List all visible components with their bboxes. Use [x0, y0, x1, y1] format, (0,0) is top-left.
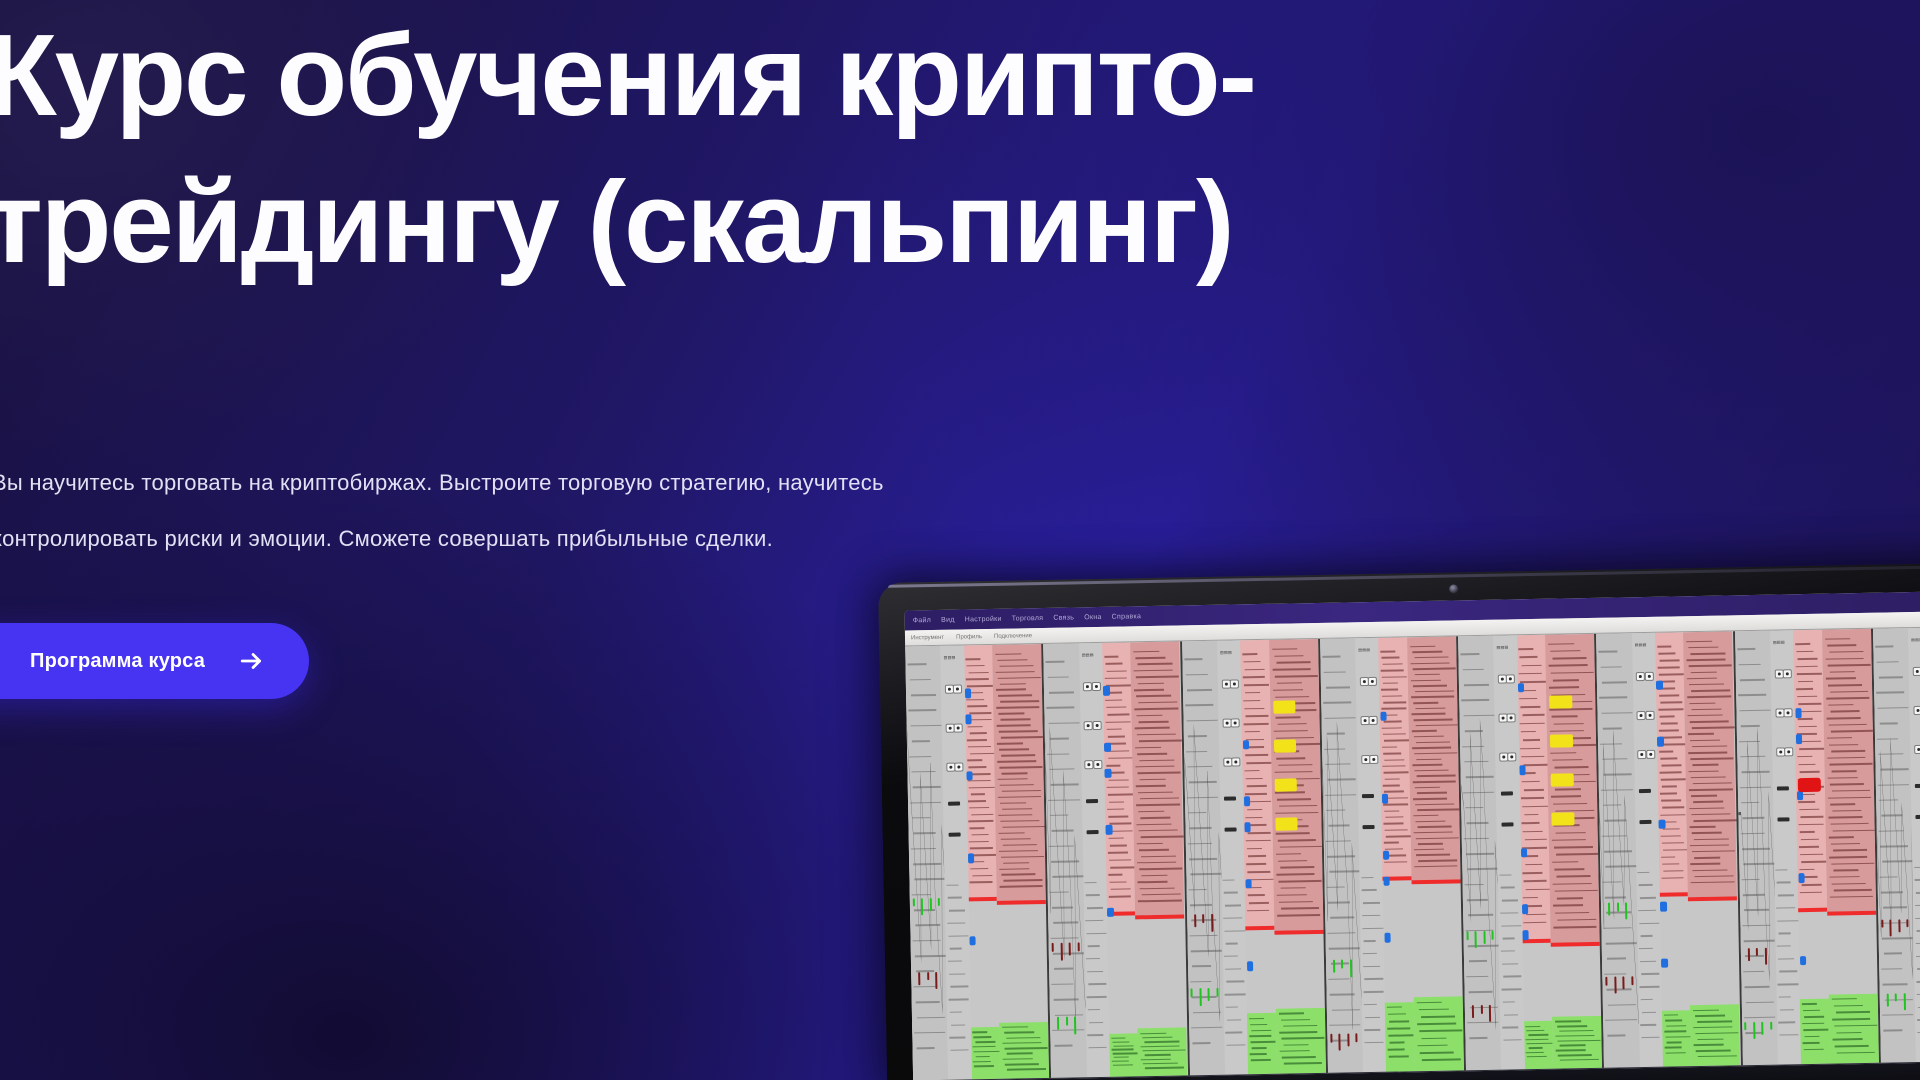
- dom-panel-2[interactable]: ▤▤▤: [1043, 641, 1189, 1077]
- bullish-candle-marker: [1199, 988, 1201, 1005]
- order-marker-blue: [1795, 708, 1801, 718]
- bullish-candle-marker: [1333, 960, 1335, 973]
- laptop-mockup: Файл Вид Настройки Торговля Связь Окна С…: [878, 562, 1920, 1080]
- highlighted-volume-cell: [1273, 700, 1296, 713]
- dom-ladder-grid[interactable]: ▤▤▤▤▤▤▤▤▤▤▤▤▤▤▤▤▤▤▤▤▤▤▤▤: [905, 626, 1920, 1080]
- bullish-candle-marker: [1753, 1022, 1755, 1039]
- order-marker-blue: [1244, 822, 1250, 832]
- toolbar-item-1[interactable]: Профиль: [956, 634, 982, 640]
- arrow-right-icon: [239, 648, 265, 674]
- volume-tape-column[interactable]: [1407, 636, 1464, 1071]
- bearish-candle-marker: [1764, 948, 1766, 965]
- order-marker-blue: [1243, 740, 1249, 750]
- order-marker-blue: [1103, 686, 1109, 696]
- order-marker-blue: [1244, 796, 1250, 806]
- volume-tape-column[interactable]: [992, 644, 1049, 1079]
- dom-panel-8[interactable]: ▤▤▤: [1873, 626, 1920, 1062]
- order-marker-blue: [1522, 904, 1528, 914]
- order-marker-blue: [1521, 848, 1527, 858]
- webcam-icon: [1449, 584, 1458, 593]
- order-marker-blue: [1107, 907, 1113, 917]
- bullish-candle-marker: [930, 898, 932, 911]
- bearish-candle-marker: [1898, 919, 1900, 932]
- order-marker-blue: [1245, 879, 1251, 889]
- bullish-candle-marker: [1350, 960, 1352, 977]
- bullish-candle-marker: [1216, 988, 1218, 997]
- toolbar-item-2[interactable]: Подключение: [994, 633, 1032, 640]
- course-program-button[interactable]: Программа курса: [0, 623, 309, 699]
- order-marker-blue: [967, 771, 973, 781]
- page-title-line-2: трейдингу (скальпинг): [0, 149, 1686, 296]
- page-title: Курс обучения крипто- трейдингу (скальпи…: [0, 2, 1686, 297]
- bearish-candle-marker: [1756, 948, 1758, 957]
- dom-panel-6[interactable]: ▤▤▤: [1596, 631, 1742, 1067]
- order-marker-blue: [1660, 902, 1666, 912]
- hero-subtitle: Вы научитесь торговать на криптобиржах. …: [0, 455, 1172, 567]
- bullish-candle-marker: [913, 898, 915, 907]
- bearish-candle-marker: [1881, 919, 1883, 928]
- highlighted-volume-cell: [1274, 739, 1297, 752]
- highlighted-volume-cell: [1274, 778, 1297, 791]
- laptop-screen: Файл Вид Настройки Торговля Связь Окна С…: [905, 590, 1920, 1080]
- order-marker-blue: [1796, 734, 1802, 744]
- highlighted-volume-cell: [1549, 695, 1572, 708]
- order-marker-blue: [1659, 819, 1665, 829]
- bullish-candle-marker: [1770, 1021, 1772, 1030]
- dom-panel-4[interactable]: ▤▤▤: [1320, 636, 1466, 1072]
- bearish-candle-marker: [1052, 943, 1054, 952]
- menu-item-6[interactable]: Справка: [1112, 613, 1142, 621]
- order-marker-blue: [970, 936, 976, 946]
- hero-subtitle-line-1: Вы научитесь торговать на криптобиржах. …: [0, 455, 1172, 511]
- page-title-line-1: Курс обучения крипто-: [0, 2, 1686, 149]
- bearish-candle-marker: [1060, 943, 1062, 960]
- course-program-button-label: Программа курса: [30, 650, 205, 673]
- menu-item-0[interactable]: Файл: [913, 617, 932, 624]
- bearish-candle-marker: [1211, 914, 1213, 931]
- volume-tape-column[interactable]: [1822, 629, 1879, 1064]
- order-marker-blue: [1520, 765, 1526, 775]
- bullish-candle-marker: [1066, 1017, 1068, 1026]
- active-position-marker: [1798, 777, 1821, 792]
- menu-item-3[interactable]: Торговля: [1012, 614, 1044, 622]
- menu-item-5[interactable]: Окна: [1084, 613, 1102, 620]
- bearish-candle-marker: [1480, 1005, 1482, 1014]
- price-tick-rows: [1407, 636, 1464, 1071]
- bullish-candle-marker: [1483, 931, 1485, 944]
- order-marker-blue: [1383, 876, 1389, 886]
- menu-item-4[interactable]: Связь: [1053, 614, 1074, 621]
- order-marker-blue: [1656, 680, 1662, 690]
- bearish-candle-marker: [1747, 948, 1749, 961]
- bullish-candle-marker: [1466, 931, 1468, 940]
- bearish-candle-marker: [1194, 915, 1196, 928]
- hero-subtitle-line-2: контролировать риски и эмоции. Сможете с…: [0, 511, 1172, 567]
- highlighted-volume-cell: [1275, 817, 1298, 830]
- laptop-bezel: Файл Вид Настройки Торговля Связь Окна С…: [878, 562, 1920, 1080]
- highlighted-volume-cell: [1551, 773, 1574, 786]
- volume-tape-column[interactable]: [1683, 631, 1740, 1066]
- order-marker-blue: [1518, 683, 1524, 693]
- bullish-candle-marker: [1617, 903, 1619, 912]
- order-marker-blue: [1382, 794, 1388, 804]
- volume-tape-column[interactable]: [1131, 641, 1188, 1076]
- bearish-candle-marker: [1355, 1033, 1357, 1042]
- price-tick-rows: [1131, 641, 1188, 1076]
- dom-panel-1[interactable]: ▤▤▤: [905, 644, 1051, 1080]
- order-marker-blue: [1384, 933, 1390, 943]
- menu-item-1[interactable]: Вид: [941, 616, 955, 623]
- order-marker-blue: [1106, 825, 1112, 835]
- bullish-candle-marker: [1904, 993, 1906, 1010]
- order-marker-blue: [965, 689, 971, 699]
- price-tick-rows: [992, 644, 1049, 1079]
- price-tick-rows: [1822, 629, 1879, 1064]
- order-marker-blue: [1104, 743, 1110, 753]
- bearish-candle-marker: [1605, 977, 1607, 986]
- bearish-candle-marker: [1906, 919, 1908, 928]
- dom-panel-5[interactable]: ▤▤▤: [1458, 634, 1604, 1070]
- order-marker-blue: [1661, 958, 1667, 968]
- bearish-candle-marker: [1347, 1033, 1349, 1046]
- order-marker-blue: [968, 854, 974, 864]
- bearish-candle-marker: [1202, 914, 1204, 923]
- order-marker-blue: [966, 715, 972, 725]
- bearish-candle-marker: [1330, 1034, 1332, 1043]
- volume-tape-column[interactable]: [1545, 634, 1602, 1069]
- toolbar-item-0[interactable]: Инструмент: [911, 634, 944, 641]
- bearish-candle-marker: [1614, 976, 1616, 993]
- volume-tape-column[interactable]: [1269, 639, 1326, 1074]
- order-marker-blue: [1798, 873, 1804, 883]
- order-marker-blue: [1105, 769, 1111, 779]
- bearish-candle-marker: [1631, 976, 1633, 985]
- bearish-candle-marker: [1077, 943, 1079, 952]
- dom-panel-7[interactable]: ▤▤▤: [1735, 629, 1881, 1065]
- dom-panel-3[interactable]: ▤▤▤: [1182, 639, 1328, 1075]
- bullish-candle-marker: [1887, 993, 1889, 1006]
- order-marker-blue: [1383, 850, 1389, 860]
- bearish-candle-marker: [927, 972, 929, 981]
- order-marker-blue: [1800, 956, 1806, 966]
- order-marker-blue: [1657, 737, 1663, 747]
- highlighted-volume-cell: [1551, 812, 1574, 825]
- highlighted-volume-cell: [1550, 734, 1573, 747]
- menu-item-2[interactable]: Настройки: [965, 615, 1002, 623]
- order-marker-blue: [1380, 711, 1386, 721]
- order-marker-blue: [1247, 961, 1253, 971]
- price-tick-rows: [1683, 631, 1740, 1066]
- order-marker-blue: [1523, 930, 1529, 940]
